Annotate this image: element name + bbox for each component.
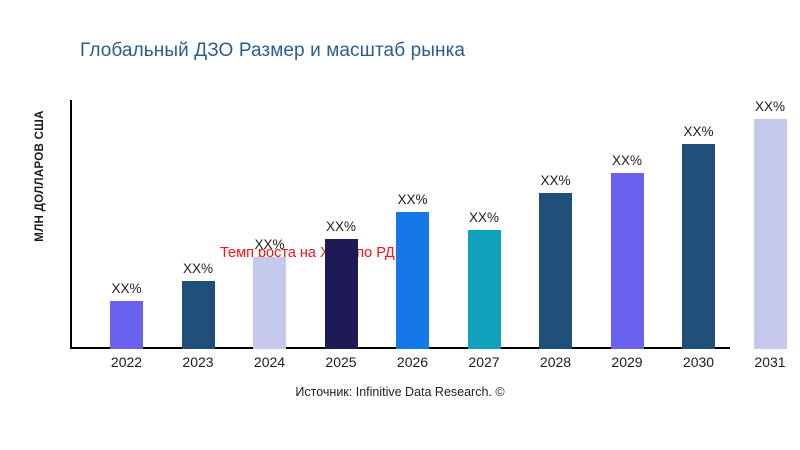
bar-value-label-2024: XX% bbox=[254, 237, 284, 252]
y-axis-line bbox=[70, 100, 72, 349]
bar-group-2029[interactable]: XX% bbox=[611, 100, 644, 349]
bar-value-label-2030: XX% bbox=[683, 124, 713, 139]
source-note: Источник: Infinitive Data Research. © bbox=[0, 385, 800, 399]
x-axis-tick-labels: 2022202320242025202620272028202920302031 bbox=[70, 354, 784, 376]
bar-group-2028[interactable]: XX% bbox=[539, 100, 572, 349]
x-tick-2023: 2023 bbox=[168, 354, 228, 370]
chart-figure: Глобальный ДЗО Размер и масштаб рынка МЛ… bbox=[0, 0, 800, 450]
bar-group-2024[interactable]: XX% bbox=[253, 100, 286, 349]
y-axis-title: МЛН ДОЛЛАРОВ США bbox=[34, 66, 46, 286]
bar-group-2031[interactable]: XX% bbox=[754, 100, 787, 349]
x-tick-2029: 2029 bbox=[597, 354, 657, 370]
bar-2022[interactable] bbox=[110, 301, 143, 349]
x-tick-2024: 2024 bbox=[240, 354, 300, 370]
bar-group-2030[interactable]: XX% bbox=[682, 100, 715, 349]
bar-2031[interactable] bbox=[754, 119, 787, 349]
bar-2025[interactable] bbox=[325, 239, 358, 349]
bar-2027[interactable] bbox=[468, 230, 501, 349]
bar-2026[interactable] bbox=[396, 212, 429, 349]
bar-2029[interactable] bbox=[611, 173, 644, 349]
bar-value-label-2025: XX% bbox=[326, 219, 356, 234]
x-tick-2027: 2027 bbox=[454, 354, 514, 370]
bar-group-2023[interactable]: XX% bbox=[182, 100, 215, 349]
x-tick-2025: 2025 bbox=[311, 354, 371, 370]
x-tick-2031: 2031 bbox=[740, 354, 800, 370]
bar-value-label-2022: XX% bbox=[111, 281, 141, 296]
growth-rate-annotation: Темп роста на XX% по РДЭ bbox=[220, 245, 405, 261]
bar-2024[interactable] bbox=[253, 257, 286, 349]
chart-title: Глобальный ДЗО Размер и масштаб рынка bbox=[80, 40, 465, 62]
x-tick-2026: 2026 bbox=[383, 354, 443, 370]
bar-value-label-2031: XX% bbox=[755, 99, 785, 114]
x-tick-2028: 2028 bbox=[526, 354, 586, 370]
bar-value-label-2026: XX% bbox=[397, 192, 427, 207]
bar-value-label-2028: XX% bbox=[540, 173, 570, 188]
bar-value-label-2029: XX% bbox=[612, 153, 642, 168]
x-tick-2022: 2022 bbox=[97, 354, 157, 370]
bar-group-2027[interactable]: XX% bbox=[468, 100, 501, 349]
bar-2030[interactable] bbox=[682, 144, 715, 349]
bar-2023[interactable] bbox=[182, 281, 215, 349]
bar-value-label-2023: XX% bbox=[183, 261, 213, 276]
bar-2028[interactable] bbox=[539, 193, 572, 349]
bar-group-2026[interactable]: XX% bbox=[396, 100, 429, 349]
x-tick-2030: 2030 bbox=[669, 354, 729, 370]
plot-area: Темп роста на XX% по РДЭ XX%XX%XX%XX%XX%… bbox=[70, 100, 784, 349]
bar-group-2025[interactable]: XX% bbox=[325, 100, 358, 349]
bar-group-2022[interactable]: XX% bbox=[110, 100, 143, 349]
bar-value-label-2027: XX% bbox=[469, 210, 499, 225]
